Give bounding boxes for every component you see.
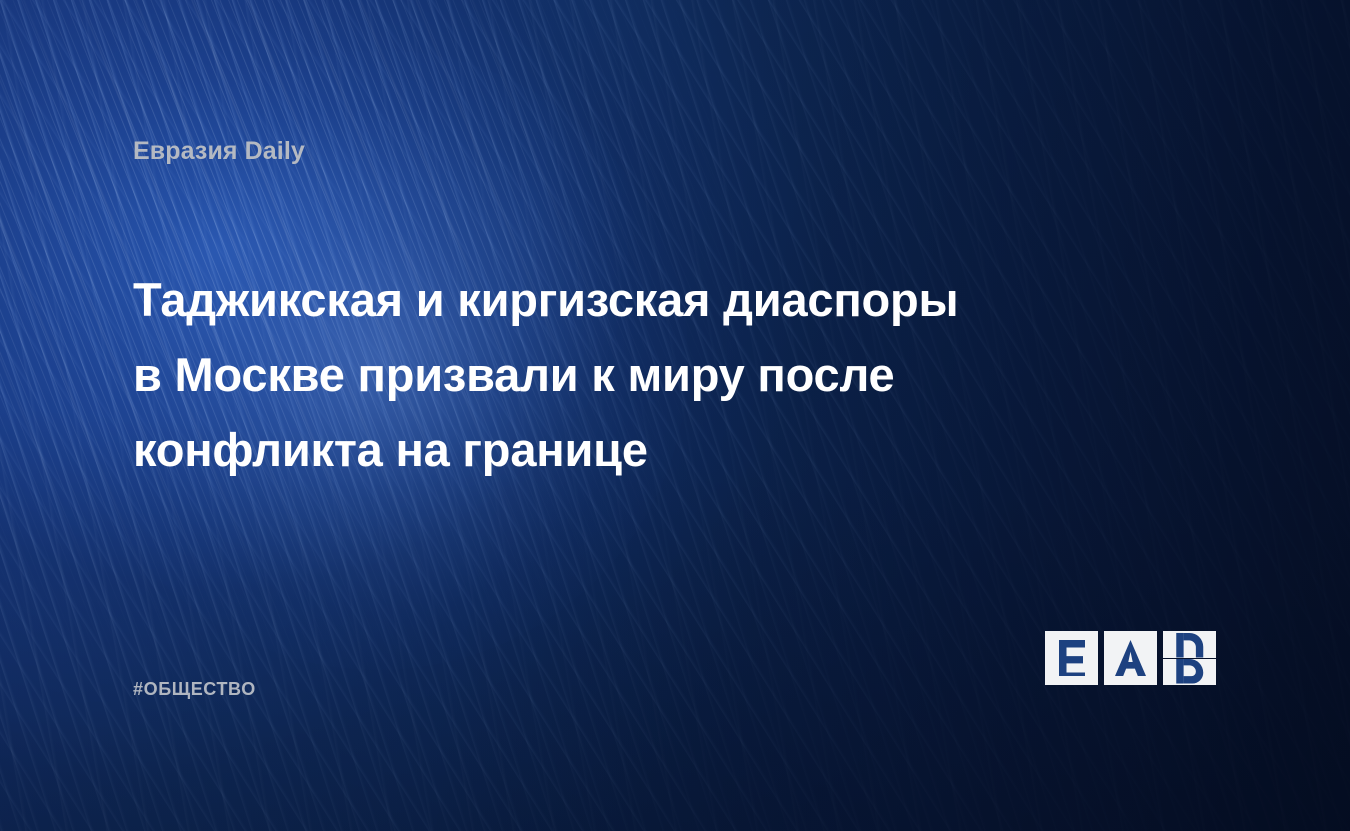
- logo-tile-d-lower: [1163, 659, 1216, 686]
- logo-tile-a: [1104, 631, 1157, 685]
- logo-tile-d-upper: [1163, 631, 1216, 658]
- eadaily-logo[interactable]: [1045, 631, 1220, 685]
- logo-tile-d: [1163, 631, 1216, 685]
- letter-a-icon: [1104, 631, 1157, 685]
- brand-wordmark: Евразия Daily: [133, 137, 305, 166]
- letter-d-upper-icon: [1163, 631, 1216, 658]
- card-content: Евразия Daily Таджикская и киргизская ди…: [0, 0, 1350, 831]
- headline-line-3: конфликта на границе: [133, 412, 1133, 487]
- category-tag[interactable]: #ОБЩЕСТВО: [133, 679, 256, 700]
- logo-tile-e: [1045, 631, 1098, 685]
- headline-line-2: в Москве призвали к миру после: [133, 337, 1133, 412]
- letter-e-icon: [1045, 631, 1098, 685]
- letter-d-lower-icon: [1163, 659, 1216, 686]
- page-title: Таджикская и киргизская диаспоры в Москв…: [133, 262, 1133, 487]
- headline-line-1: Таджикская и киргизская диаспоры: [133, 262, 1133, 337]
- article-share-card: Евразия Daily Таджикская и киргизская ди…: [0, 0, 1350, 831]
